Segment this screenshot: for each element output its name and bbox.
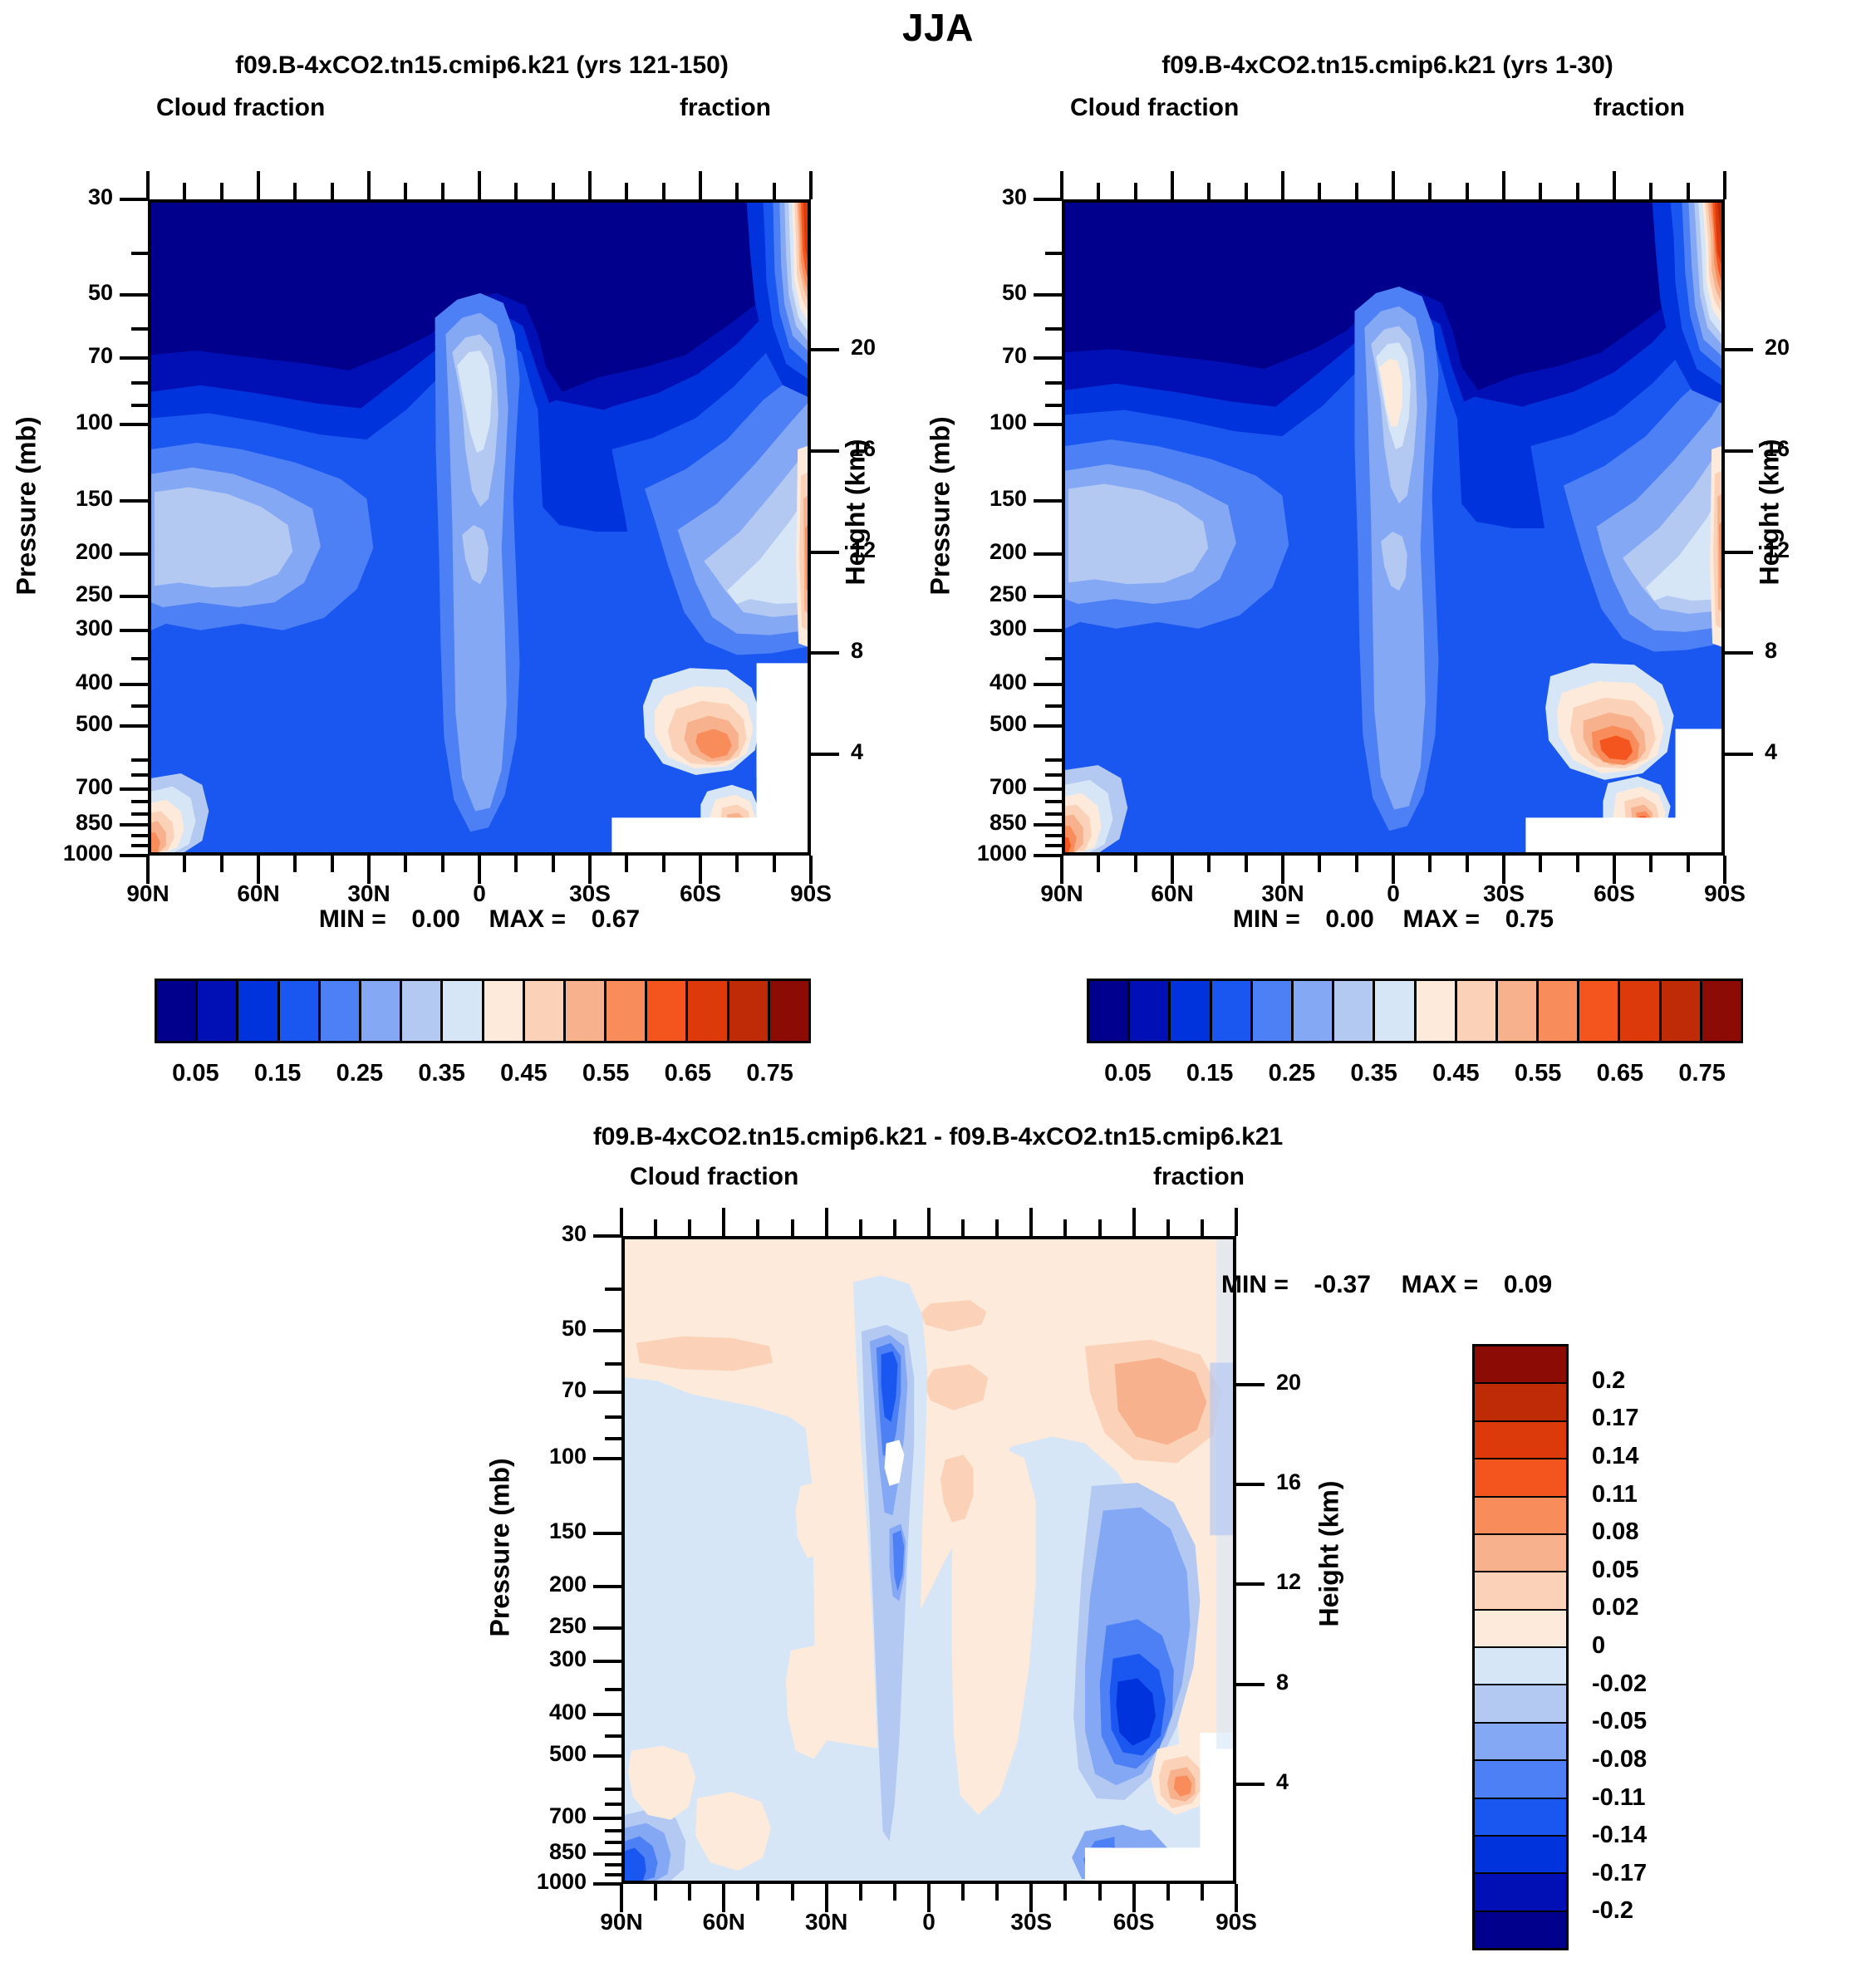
- lat-minor-tick: [859, 1884, 862, 1901]
- colorbar-segment: [607, 981, 647, 1041]
- pressure-tick-mark: [593, 1329, 621, 1332]
- panel-case2-title: f09.B-4xCO2.tn15.cmip6.k21 (yrs 1-30): [972, 52, 1803, 80]
- pressure-tick-label: 70: [464, 1379, 587, 1401]
- lat-minor-tick: [688, 1884, 691, 1901]
- pressure-tick-mark: [593, 1391, 621, 1394]
- pressure-minor-tick: [1045, 844, 1062, 847]
- panel-case1-title: f09.B-4xCO2.tn15.cmip6.k21 (yrs 121-150): [66, 52, 897, 80]
- pressure-tick-label: 700: [0, 776, 113, 798]
- height-tick-label: 20: [1276, 1371, 1368, 1394]
- pressure-tick-label: 400: [0, 671, 113, 694]
- lat-tick-mark: [588, 856, 592, 884]
- panel-diff-colorbar[interactable]: [1472, 1344, 1569, 1950]
- colorbar-segment: [321, 981, 361, 1041]
- lat-minor-tick: [293, 856, 297, 872]
- height-tick-label: 8: [1765, 640, 1856, 662]
- pressure-minor-tick: [131, 327, 148, 331]
- pressure-tick-mark: [120, 854, 148, 857]
- panel-case1-units-label: fraction: [680, 94, 771, 122]
- panel-diff-min-value: -0.37: [1314, 1271, 1371, 1298]
- colorbar-segment: [1253, 981, 1294, 1041]
- pressure-tick-label: 30: [904, 186, 1027, 208]
- colorbar-segment: [729, 981, 770, 1041]
- lat-minor-tick: [220, 856, 223, 872]
- panel-case1-contour-field: [151, 203, 808, 852]
- height-tick-mark: [811, 348, 839, 351]
- lat-top-minor-tick: [1245, 183, 1248, 199]
- pressure-tick-mark: [1034, 823, 1062, 827]
- pressure-minor-tick: [605, 1863, 621, 1866]
- pressure-tick-mark: [120, 356, 148, 360]
- lat-tick-label: 90S: [736, 880, 886, 907]
- panel-diff-contour-field: [625, 1239, 1233, 1881]
- lat-top-tick: [367, 171, 371, 199]
- pressure-minor-tick: [1045, 773, 1062, 777]
- lat-tick-mark: [257, 856, 260, 884]
- colorbar-segment: [1417, 981, 1457, 1041]
- lat-minor-tick: [1207, 856, 1211, 872]
- lat-top-tick: [1613, 171, 1616, 199]
- lat-top-tick: [1132, 1208, 1136, 1236]
- pressure-tick-mark: [120, 787, 148, 791]
- lat-minor-tick: [625, 856, 628, 872]
- panel-diff-yaxis-label: Pressure (mb): [485, 1471, 516, 1637]
- colorbar-segment: [1620, 981, 1661, 1041]
- pressure-tick-label: 50: [904, 282, 1027, 304]
- lat-top-tick: [257, 171, 260, 199]
- pressure-tick-label: 50: [464, 1317, 587, 1340]
- pressure-tick-mark: [120, 198, 148, 201]
- lat-top-minor-tick: [552, 183, 555, 199]
- colorbar-segment: [1498, 981, 1539, 1041]
- colorbar-segment: [1475, 1611, 1566, 1648]
- colorbar-segment: [198, 981, 238, 1041]
- pressure-tick-label: 150: [0, 488, 113, 510]
- colorbar-segment: [1475, 1498, 1566, 1535]
- lat-minor-tick: [893, 1884, 896, 1901]
- pressure-minor-tick: [131, 773, 148, 777]
- pressure-tick-mark: [1034, 293, 1062, 297]
- lat-tick-mark: [825, 1884, 828, 1912]
- pressure-tick-mark: [120, 823, 148, 827]
- pressure-tick-mark: [1034, 683, 1062, 686]
- pressure-tick-label: 30: [464, 1223, 587, 1245]
- colorbar-segment: [1212, 981, 1253, 1041]
- height-tick-label: 16: [1276, 1471, 1368, 1494]
- lat-minor-tick: [1687, 856, 1690, 872]
- colorbar-segment: [1475, 1572, 1566, 1610]
- panel-case1-max-value: 0.67: [592, 905, 640, 933]
- pressure-tick-mark: [1034, 198, 1062, 201]
- pressure-tick-label: 300: [904, 617, 1027, 640]
- colorbar-tick-label: -0.05: [1592, 1708, 1758, 1735]
- lat-minor-tick: [1428, 856, 1432, 872]
- pressure-minor-tick: [1045, 327, 1062, 331]
- pressure-tick-mark: [593, 1882, 621, 1886]
- height-tick-label: 20: [1765, 336, 1856, 359]
- pressure-minor-tick: [605, 1734, 621, 1738]
- lat-top-minor-tick: [1318, 183, 1321, 199]
- lat-top-minor-tick: [441, 183, 444, 199]
- height-tick-mark: [1725, 753, 1753, 756]
- panel-case2-variable-label: Cloud fraction: [1070, 94, 1239, 122]
- pressure-tick-mark: [120, 423, 148, 426]
- lat-minor-tick: [1466, 856, 1469, 872]
- lat-top-tick: [478, 171, 481, 199]
- panel-diff-units-label: fraction: [1153, 1163, 1245, 1191]
- pressure-tick-mark: [1034, 552, 1062, 556]
- lat-top-minor-tick: [1576, 183, 1579, 199]
- colorbar-segment: [770, 981, 808, 1041]
- lat-top-tick: [146, 171, 150, 199]
- lat-tick-mark: [1235, 1884, 1238, 1912]
- height-tick-mark: [1725, 651, 1753, 655]
- pressure-tick-mark: [593, 1585, 621, 1588]
- lat-top-minor-tick: [893, 1219, 896, 1236]
- lat-minor-tick: [1576, 856, 1579, 872]
- lat-tick-mark: [1132, 1884, 1136, 1912]
- colorbar-segment: [361, 981, 402, 1041]
- pressure-tick-mark: [1034, 787, 1062, 791]
- colorbar-segment: [1475, 1685, 1566, 1723]
- panel-diff-y2axis-label: Height (km): [1314, 1471, 1345, 1637]
- lat-top-tick: [927, 1208, 931, 1236]
- panel-diff-variable-label: Cloud fraction: [630, 1163, 798, 1191]
- pressure-minor-tick: [605, 1415, 621, 1419]
- pressure-minor-tick: [605, 1873, 621, 1876]
- lat-minor-tick: [552, 856, 555, 872]
- pressure-minor-tick: [1045, 381, 1062, 385]
- lat-top-minor-tick: [404, 183, 407, 199]
- pressure-tick-mark: [1034, 499, 1062, 503]
- lat-top-tick: [1235, 1208, 1238, 1236]
- panel-diff-max-label: MAX =: [1402, 1271, 1479, 1298]
- colorbar-tick-label: 0.11: [1592, 1481, 1758, 1508]
- colorbar-tick-label: 0: [1592, 1632, 1758, 1660]
- height-tick-mark: [1236, 1683, 1265, 1686]
- lat-minor-tick: [995, 1884, 999, 1901]
- pressure-tick-label: 100: [0, 411, 113, 434]
- pressure-minor-tick: [131, 704, 148, 708]
- panel-case2-plot-area: [1062, 199, 1725, 856]
- lat-top-minor-tick: [220, 183, 223, 199]
- lat-tick-mark: [1392, 856, 1395, 884]
- pressure-tick-mark: [593, 1852, 621, 1856]
- pressure-tick-label: 250: [904, 583, 1027, 606]
- lat-top-minor-tick: [961, 1219, 965, 1236]
- panel-case1-yaxis-label: Pressure (mb): [12, 429, 42, 596]
- panel-case2-max-label: MAX =: [1403, 905, 1481, 933]
- lat-top-tick: [620, 1208, 623, 1236]
- colorbar-tick-label: 0.02: [1592, 1594, 1758, 1621]
- lat-top-minor-tick: [791, 1219, 794, 1236]
- colorbar-tick-label: 0.2: [1592, 1367, 1758, 1395]
- pressure-tick-mark: [120, 683, 148, 686]
- lat-top-minor-tick: [995, 1219, 999, 1236]
- colorbar-segment: [1475, 1761, 1566, 1798]
- lat-minor-tick: [514, 856, 518, 872]
- pressure-tick-label: 400: [904, 671, 1027, 694]
- lat-minor-tick: [791, 1884, 794, 1901]
- colorbar-tick-label: 0.14: [1592, 1443, 1758, 1470]
- pressure-tick-label: 200: [904, 541, 1027, 563]
- panel-case2-min-label: MIN =: [1233, 905, 1300, 933]
- lat-top-tick: [722, 1208, 725, 1236]
- lat-tick-label: 90S: [1650, 880, 1800, 907]
- pressure-tick-label: 1000: [0, 842, 113, 865]
- lat-top-minor-tick: [1134, 183, 1137, 199]
- panel-diff-max-value: 0.09: [1504, 1271, 1552, 1298]
- colorbar-segment: [484, 981, 525, 1041]
- lat-minor-tick: [654, 1884, 657, 1901]
- lat-tick-mark: [146, 856, 150, 884]
- figure-main-title: JJA: [0, 5, 1876, 50]
- pressure-tick-mark: [593, 1457, 621, 1460]
- lat-top-tick: [1281, 171, 1284, 199]
- pressure-minor-tick: [131, 381, 148, 385]
- height-tick-mark: [811, 551, 839, 554]
- colorbar-segment: [1171, 981, 1211, 1041]
- lat-tick-mark: [699, 856, 702, 884]
- colorbar-segment: [1475, 1874, 1566, 1911]
- lat-top-minor-tick: [1166, 1219, 1170, 1236]
- colorbar-segment: [1475, 1799, 1566, 1837]
- height-tick-mark: [1236, 1582, 1265, 1586]
- panel-case1-plot-area: [148, 199, 811, 856]
- panel-diff-min-label: MIN =: [1221, 1271, 1289, 1298]
- lat-top-minor-tick: [1428, 183, 1432, 199]
- lat-minor-tick: [1318, 856, 1321, 872]
- pressure-tick-label: 1000: [464, 1871, 587, 1893]
- pressure-minor-tick: [605, 1829, 621, 1832]
- pressure-tick-mark: [1034, 423, 1062, 426]
- pressure-minor-tick: [605, 1288, 621, 1291]
- lat-top-minor-tick: [662, 183, 665, 199]
- pressure-minor-tick: [131, 844, 148, 847]
- lat-minor-tick: [961, 1884, 965, 1901]
- lat-minor-tick: [773, 856, 776, 872]
- height-tick-mark: [811, 651, 839, 655]
- lat-top-tick: [1060, 171, 1063, 199]
- pressure-tick-mark: [120, 499, 148, 503]
- pressure-minor-tick: [1045, 758, 1062, 762]
- panel-case2-max-value: 0.75: [1505, 905, 1554, 933]
- pressure-tick-label: 200: [464, 1573, 587, 1596]
- colorbar-tick-label: -0.17: [1592, 1860, 1758, 1887]
- pressure-minor-tick: [131, 812, 148, 816]
- colorbar-segment: [1475, 1422, 1566, 1459]
- colorbar-segment: [1375, 981, 1416, 1041]
- colorbar-tick-label: -0.11: [1592, 1784, 1758, 1812]
- lat-tick-mark: [927, 1884, 931, 1912]
- panel-case1-min-value: 0.00: [411, 905, 459, 933]
- lat-top-minor-tick: [688, 1219, 691, 1236]
- lat-top-minor-tick: [773, 183, 776, 199]
- lat-top-minor-tick: [1098, 1219, 1102, 1236]
- colorbar-segment: [525, 981, 566, 1041]
- pressure-tick-label: 700: [464, 1805, 587, 1827]
- pressure-tick-label: 500: [0, 713, 113, 735]
- pressure-tick-label: 250: [464, 1615, 587, 1637]
- panel-case2-colorbar[interactable]: [1087, 979, 1743, 1043]
- lat-minor-tick: [1649, 856, 1653, 872]
- lat-top-minor-tick: [756, 1219, 759, 1236]
- lat-minor-tick: [183, 856, 186, 872]
- height-tick-label: 4: [1276, 1771, 1368, 1793]
- panel-diff-minmax: MIN = -0.37 MAX = 0.09: [1221, 1271, 1753, 1299]
- pressure-tick-label: 30: [0, 186, 113, 208]
- pressure-tick-label: 250: [0, 583, 113, 606]
- colorbar-segment: [647, 981, 688, 1041]
- colorbar-segment: [566, 981, 607, 1041]
- height-tick-label: 16: [1765, 438, 1856, 460]
- lat-tick-label: 90S: [1161, 1909, 1311, 1935]
- lat-tick-mark: [620, 1884, 623, 1912]
- lat-top-minor-tick: [293, 183, 297, 199]
- colorbar-segment: [1702, 981, 1741, 1041]
- lat-minor-tick: [1063, 1884, 1067, 1901]
- pressure-tick-label: 300: [0, 617, 113, 640]
- pressure-tick-mark: [1034, 854, 1062, 857]
- colorbar-tick-label: -0.2: [1592, 1897, 1758, 1925]
- colorbar-segment: [1475, 1535, 1566, 1572]
- colorbar-segment: [1579, 981, 1620, 1041]
- lat-tick-mark: [478, 856, 481, 884]
- height-tick-label: 8: [1276, 1671, 1368, 1694]
- pressure-minor-tick: [131, 758, 148, 762]
- pressure-tick-label: 70: [904, 345, 1027, 367]
- colorbar-segment: [1475, 1346, 1566, 1384]
- height-tick-mark: [1236, 1783, 1265, 1786]
- pressure-minor-tick: [1045, 800, 1062, 803]
- colorbar-segment: [1662, 981, 1702, 1041]
- lat-top-minor-tick: [183, 183, 186, 199]
- pressure-tick-label: 850: [464, 1841, 587, 1863]
- colorbar-segment: [1475, 1648, 1566, 1685]
- panel-case2-yaxis-label: Pressure (mb): [926, 429, 956, 596]
- lat-tick-mark: [1060, 856, 1063, 884]
- height-tick-label: 4: [851, 741, 942, 763]
- pressure-tick-mark: [593, 1532, 621, 1535]
- colorbar-segment: [238, 981, 279, 1041]
- lat-top-minor-tick: [1355, 183, 1358, 199]
- lat-top-minor-tick: [1063, 1219, 1067, 1236]
- lat-top-minor-tick: [1649, 183, 1653, 199]
- colorbar-segment: [1475, 1724, 1566, 1761]
- lat-top-tick: [588, 171, 592, 199]
- pressure-tick-label: 150: [904, 488, 1027, 510]
- lat-top-tick: [1502, 171, 1505, 199]
- colorbar-segment: [1539, 981, 1579, 1041]
- pressure-tick-mark: [1034, 629, 1062, 632]
- colorbar-tick-label: 0.75: [704, 1060, 837, 1087]
- height-tick-label: 12: [1765, 539, 1856, 562]
- height-tick-label: 12: [1276, 1571, 1368, 1593]
- lat-top-minor-tick: [1201, 1219, 1204, 1236]
- pressure-minor-tick: [131, 404, 148, 407]
- colorbar-segment: [1457, 981, 1498, 1041]
- lat-top-tick: [1029, 1208, 1033, 1236]
- pressure-tick-label: 150: [464, 1520, 587, 1543]
- pressure-minor-tick: [605, 1803, 621, 1806]
- panel-diff-title: f09.B-4xCO2.tn15.cmip6.k21 - f09.B-4xCO2…: [356, 1123, 1520, 1151]
- pressure-tick-mark: [1034, 595, 1062, 598]
- pressure-tick-mark: [1034, 724, 1062, 728]
- pressure-tick-mark: [593, 1754, 621, 1758]
- pressure-tick-label: 700: [904, 776, 1027, 798]
- panel-case1-min-label: MIN =: [319, 905, 386, 933]
- colorbar-segment: [1130, 981, 1171, 1041]
- lat-minor-tick: [735, 856, 739, 872]
- lat-top-minor-tick: [625, 183, 628, 199]
- colorbar-tick-label: -0.02: [1592, 1670, 1758, 1698]
- pressure-tick-label: 100: [464, 1445, 587, 1468]
- panel-case1-minmax: MIN = 0.00 MAX = 0.67: [148, 905, 811, 934]
- colorbar-tick-label: 0.08: [1592, 1518, 1758, 1546]
- pressure-minor-tick: [605, 1437, 621, 1440]
- pressure-minor-tick: [605, 1362, 621, 1366]
- pressure-tick-mark: [593, 1713, 621, 1716]
- height-tick-mark: [1725, 449, 1753, 453]
- lat-tick-mark: [1281, 856, 1284, 884]
- lat-minor-tick: [331, 856, 334, 872]
- pressure-tick-label: 400: [464, 1701, 587, 1724]
- lat-tick-mark: [809, 856, 813, 884]
- lat-tick-mark: [1171, 856, 1174, 884]
- lat-top-minor-tick: [514, 183, 518, 199]
- pressure-tick-label: 850: [0, 812, 113, 834]
- colorbar-segment: [157, 981, 198, 1041]
- lat-top-minor-tick: [654, 1219, 657, 1236]
- height-tick-label: 4: [1765, 741, 1856, 763]
- height-tick-mark: [811, 449, 839, 453]
- lat-top-tick: [1723, 171, 1726, 199]
- colorbar-segment: [1089, 981, 1130, 1041]
- pressure-tick-mark: [593, 1817, 621, 1820]
- pressure-minor-tick: [1045, 404, 1062, 407]
- lat-top-minor-tick: [331, 183, 334, 199]
- lat-minor-tick: [1355, 856, 1358, 872]
- panel-case1-colorbar[interactable]: [155, 979, 811, 1043]
- lat-top-minor-tick: [1687, 183, 1690, 199]
- pressure-tick-label: 200: [0, 541, 113, 563]
- lat-top-minor-tick: [735, 183, 739, 199]
- colorbar-segment: [1475, 1384, 1566, 1421]
- pressure-minor-tick: [131, 834, 148, 837]
- height-tick-mark: [1236, 1483, 1265, 1486]
- lat-minor-tick: [1098, 1884, 1102, 1901]
- pressure-minor-tick: [605, 1788, 621, 1791]
- colorbar-tick-label: 0.17: [1592, 1405, 1758, 1432]
- colorbar-tick-label: -0.08: [1592, 1746, 1758, 1773]
- lat-top-minor-tick: [1539, 183, 1542, 199]
- pressure-minor-tick: [131, 252, 148, 255]
- lat-top-minor-tick: [1466, 183, 1469, 199]
- pressure-minor-tick: [1045, 252, 1062, 255]
- lat-top-tick: [1392, 171, 1395, 199]
- lat-minor-tick: [662, 856, 665, 872]
- pressure-tick-mark: [120, 724, 148, 728]
- lat-tick-mark: [1029, 1884, 1033, 1912]
- lat-top-tick: [699, 171, 702, 199]
- colorbar-segment: [402, 981, 443, 1041]
- pressure-tick-label: 70: [0, 345, 113, 367]
- pressure-tick-label: 100: [904, 411, 1027, 434]
- lat-top-tick: [809, 171, 813, 199]
- lat-minor-tick: [1539, 856, 1542, 872]
- lat-tick-mark: [1502, 856, 1505, 884]
- pressure-tick-mark: [120, 629, 148, 632]
